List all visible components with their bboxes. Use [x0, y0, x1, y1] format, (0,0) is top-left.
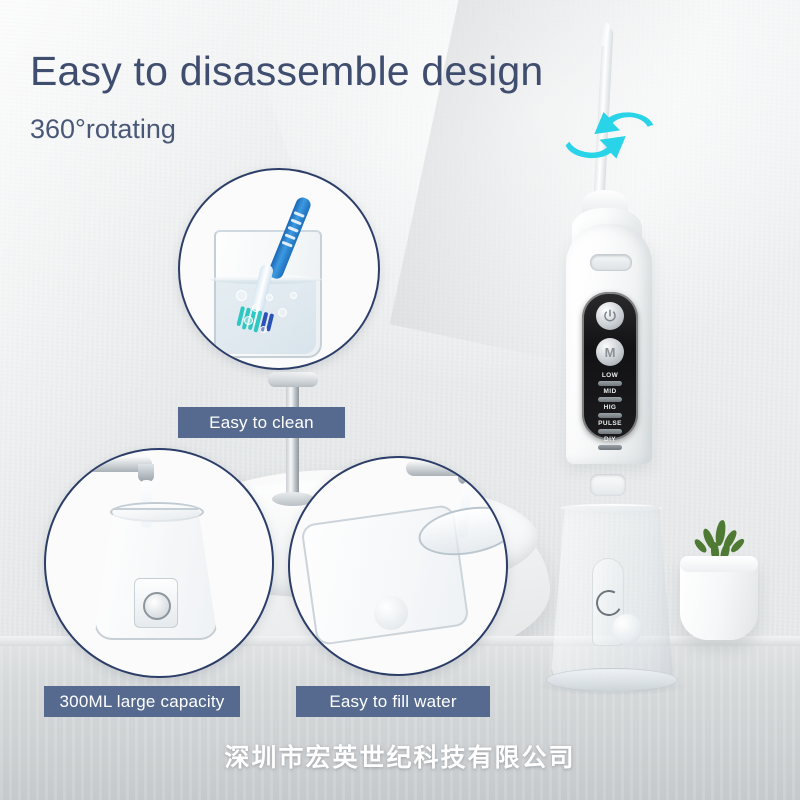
mode-button[interactable]: M: [596, 338, 624, 366]
mode-indicator-light: [598, 413, 622, 418]
rotation-arrows-icon: [558, 106, 674, 170]
inset-tank-filling-tilted: [288, 456, 508, 676]
mode-mid: MID: [586, 388, 634, 402]
mode-low: LOW: [586, 372, 634, 386]
mode-indicator-list: LOW MID HIG PULSE DIY: [586, 372, 634, 452]
nozzle-release-slot[interactable]: [590, 254, 632, 271]
product-marketing-image: Easy to disassemble design 360°rotating: [0, 0, 800, 800]
company-name: 深圳市宏英世纪科技有限公司: [0, 738, 800, 774]
mode-indicator-light: [598, 381, 622, 386]
tank-release-latch[interactable]: [590, 474, 626, 496]
tank-base: [546, 668, 678, 692]
water-flosser-device: M LOW MID HIG PULSE DIY: [520, 28, 710, 688]
inset-tank-filling-upright: [44, 448, 274, 678]
mode-indicator-light: [598, 429, 622, 434]
page-subtitle: 360°rotating: [30, 114, 176, 145]
mode-indicator-light: [598, 445, 622, 450]
badge-easy-to-fill: Easy to fill water: [296, 686, 490, 717]
tank-valve-knob: [143, 592, 171, 620]
page-title: Easy to disassemble design: [30, 50, 543, 93]
mode-diy: DIY: [586, 436, 634, 450]
power-button[interactable]: [596, 302, 624, 330]
mode-hig: HIG: [586, 404, 634, 418]
badge-capacity: 300ML large capacity: [44, 686, 240, 717]
faucet-head: [268, 372, 318, 387]
mode-indicator-light: [598, 397, 622, 402]
badge-easy-to-clean: Easy to clean: [178, 407, 345, 438]
inset-toothbrush-in-glass: [178, 168, 380, 370]
tank-outlet: [374, 596, 408, 630]
mode-pulse: PULSE: [586, 420, 634, 434]
filter-ball: [612, 614, 642, 644]
